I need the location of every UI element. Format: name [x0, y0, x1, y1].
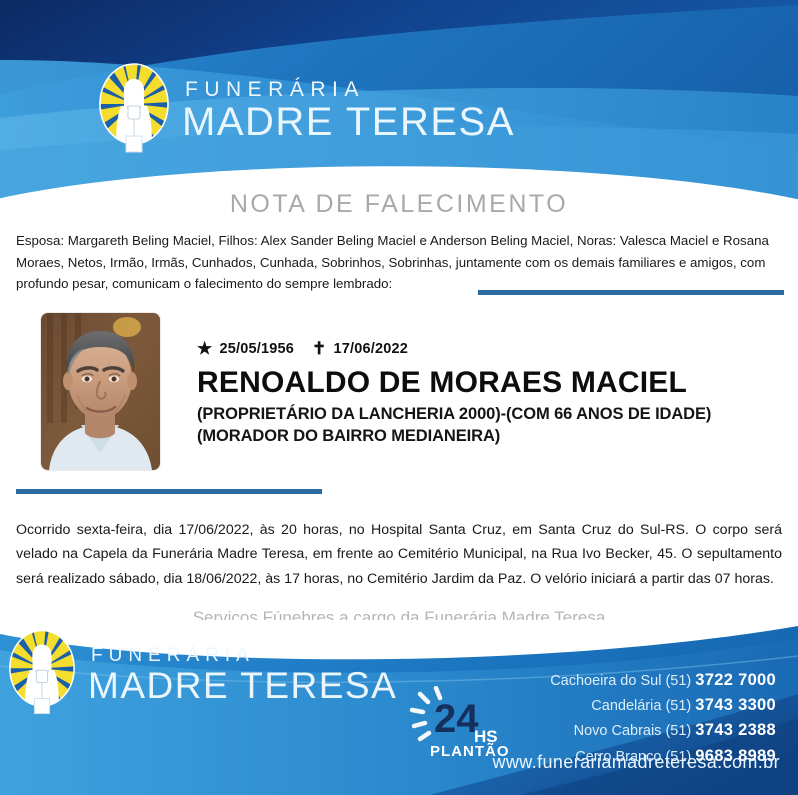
funeral-details-text: Ocorrido sexta-feira, dia 17/06/2022, às…	[16, 518, 782, 591]
contact-city: Novo Cabrais	[574, 723, 662, 739]
deceased-name: RENOALDO DE MORAES MACIEL	[197, 366, 777, 400]
divider-top	[478, 290, 784, 295]
brand-logo-footer: FUNERÁRIA MADRE TERESA	[8, 628, 397, 721]
badge-number: 24	[434, 697, 479, 741]
contact-number[interactable]: 3743 2388	[695, 721, 776, 739]
brand-name-top-footer: FUNERÁRIA	[91, 646, 397, 665]
death-cross-icon: ✝	[312, 340, 326, 357]
madonna-sunburst-emblem-icon-footer	[8, 628, 76, 721]
funeral-notice-poster: FUNERÁRIA MADRE TERESA NOTA DE FALECIMEN…	[0, 0, 798, 795]
website-url[interactable]: www.funerariamadreteresa.com.br	[492, 752, 780, 773]
death-date: 17/06/2022	[333, 341, 408, 357]
contact-area-code: (51)	[665, 698, 691, 714]
family-statement-text: Esposa: Margareth Beling Maciel, Filhos:…	[16, 230, 784, 295]
contact-area-code: (51)	[665, 673, 691, 689]
portrait-photo	[41, 313, 160, 470]
divider-bottom	[16, 489, 322, 494]
deceased-subtitle-line2: (MORADOR DO BAIRRO MEDIANEIRA)	[197, 425, 777, 447]
brand-logo-header: FUNERÁRIA MADRE TERESA	[98, 62, 515, 159]
contact-number[interactable]: 3743 3300	[695, 696, 776, 714]
brand-name-bottom: MADRE TERESA	[182, 102, 515, 142]
brand-name-bottom-footer: MADRE TERESA	[88, 667, 397, 704]
24h-duty-badge: 24 HS PLANTÃO	[408, 686, 512, 762]
birth-star-icon: ★	[197, 340, 212, 357]
contact-city: Candelária	[591, 698, 661, 714]
deceased-subtitle-line1: (PROPRIETÁRIO DA LANCHERIA 2000)-(COM 66…	[197, 403, 777, 425]
birth-date: 25/05/1956	[219, 341, 294, 357]
contact-row[interactable]: Novo Cabrais (51) 3743 2388	[550, 718, 776, 743]
contact-row[interactable]: Cachoeira do Sul (51) 3722 7000	[550, 668, 776, 693]
header-banner: FUNERÁRIA MADRE TERESA	[0, 0, 798, 215]
contact-area-code: (51)	[665, 723, 691, 739]
life-dates: ★ 25/05/1956 ✝ 17/06/2022	[197, 340, 777, 357]
contact-row[interactable]: Candelária (51) 3743 3300	[550, 693, 776, 718]
brand-name-top: FUNERÁRIA	[185, 79, 515, 100]
madonna-sunburst-emblem-icon	[98, 62, 170, 159]
contact-city: Cachoeira do Sul	[550, 673, 661, 689]
contact-number[interactable]: 3722 7000	[695, 671, 776, 689]
deceased-info: ★ 25/05/1956 ✝ 17/06/2022 RENOALDO DE MO…	[197, 340, 777, 447]
page-title: NOTA DE FALECIMENTO	[0, 190, 798, 219]
